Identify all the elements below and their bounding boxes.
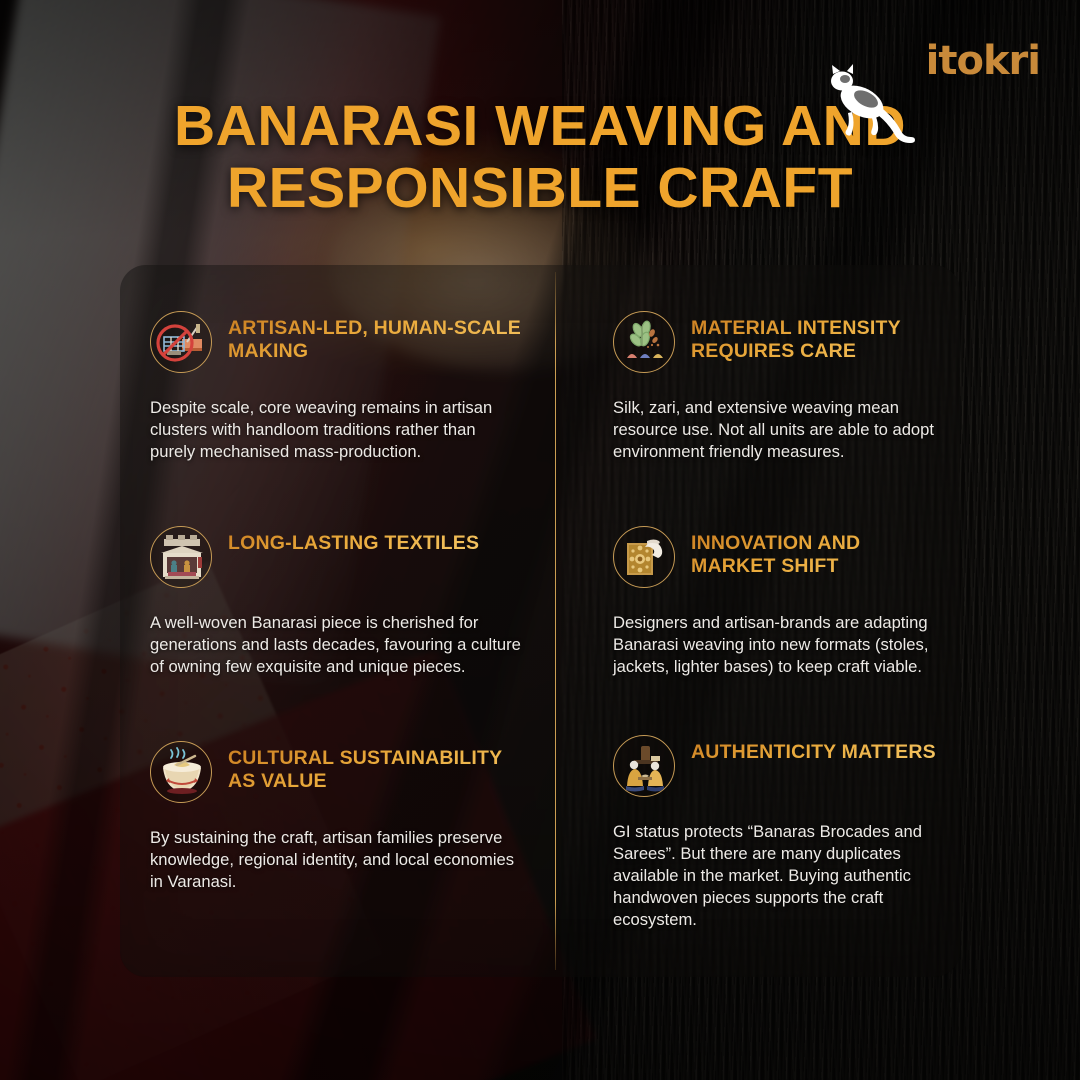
card-title: MATERIAL INTENSITY REQUIRES CARE xyxy=(691,311,942,363)
card-header: LONG-LASTING TEXTILES xyxy=(150,526,525,588)
brand-wordmark: itokri xyxy=(926,38,1040,84)
card-header: INNOVATION AND MARKET SHIFT xyxy=(613,526,942,588)
card-authenticity-matters: AUTHENTICITY MATTERS GI status protects … xyxy=(555,695,960,925)
card-body: GI status protects “Banaras Brocades and… xyxy=(613,821,942,930)
card-innovation-market-shift: INNOVATION AND MARKET SHIFT Designers an… xyxy=(555,480,960,695)
card-title: LONG-LASTING TEXTILES xyxy=(228,526,479,555)
no-machine-icon xyxy=(150,311,212,373)
poster-header: BANARASI WEAVING AND RESPONSIBLE CRAFT xyxy=(0,0,1080,265)
card-body: By sustaining the craft, artisan familie… xyxy=(150,827,525,893)
steaming-pot-icon xyxy=(150,741,212,803)
brand-logo[interactable]: itokri xyxy=(814,38,1044,150)
card-body: Silk, zari, and extensive weaving mean r… xyxy=(613,397,942,463)
card-long-lasting-textiles: LONG-LASTING TEXTILES A well-woven Banar… xyxy=(120,480,555,695)
card-body: Despite scale, core weaving remains in a… xyxy=(150,397,525,463)
card-material-intensity: MATERIAL INTENSITY REQUIRES CARE Silk, z… xyxy=(555,265,960,480)
card-body: A well-woven Banarasi piece is cherished… xyxy=(150,612,525,678)
card-title: CULTURAL SUSTAINABILITY AS VALUE xyxy=(228,741,525,793)
card-header: AUTHENTICITY MATTERS xyxy=(613,735,942,797)
card-header: MATERIAL INTENSITY REQUIRES CARE xyxy=(613,311,942,373)
card-title: AUTHENTICITY MATTERS xyxy=(691,735,936,764)
card-header: ARTISAN-LED, HUMAN-SCALE MAKING xyxy=(150,311,525,373)
card-title: INNOVATION AND MARKET SHIFT xyxy=(691,526,942,578)
card-title: ARTISAN-LED, HUMAN-SCALE MAKING xyxy=(228,311,525,363)
cards-grid: ARTISAN-LED, HUMAN-SCALE MAKING Despite … xyxy=(120,265,960,977)
craft-shop-icon xyxy=(150,526,212,588)
hand-holding-brocade-icon xyxy=(613,526,675,588)
leaves-dye-powder-icon xyxy=(613,311,675,373)
two-seated-artisans-icon xyxy=(613,735,675,797)
cat-logo-icon xyxy=(824,62,920,144)
card-artisan-led: ARTISAN-LED, HUMAN-SCALE MAKING Despite … xyxy=(120,265,555,480)
card-body: Designers and artisan-brands are adaptin… xyxy=(613,612,942,678)
infographic-poster: BANARASI WEAVING AND RESPONSIBLE CRAFT xyxy=(0,0,1080,1080)
card-header: CULTURAL SUSTAINABILITY AS VALUE xyxy=(150,741,525,803)
card-cultural-sustainability: CULTURAL SUSTAINABILITY AS VALUE By sust… xyxy=(120,695,555,925)
